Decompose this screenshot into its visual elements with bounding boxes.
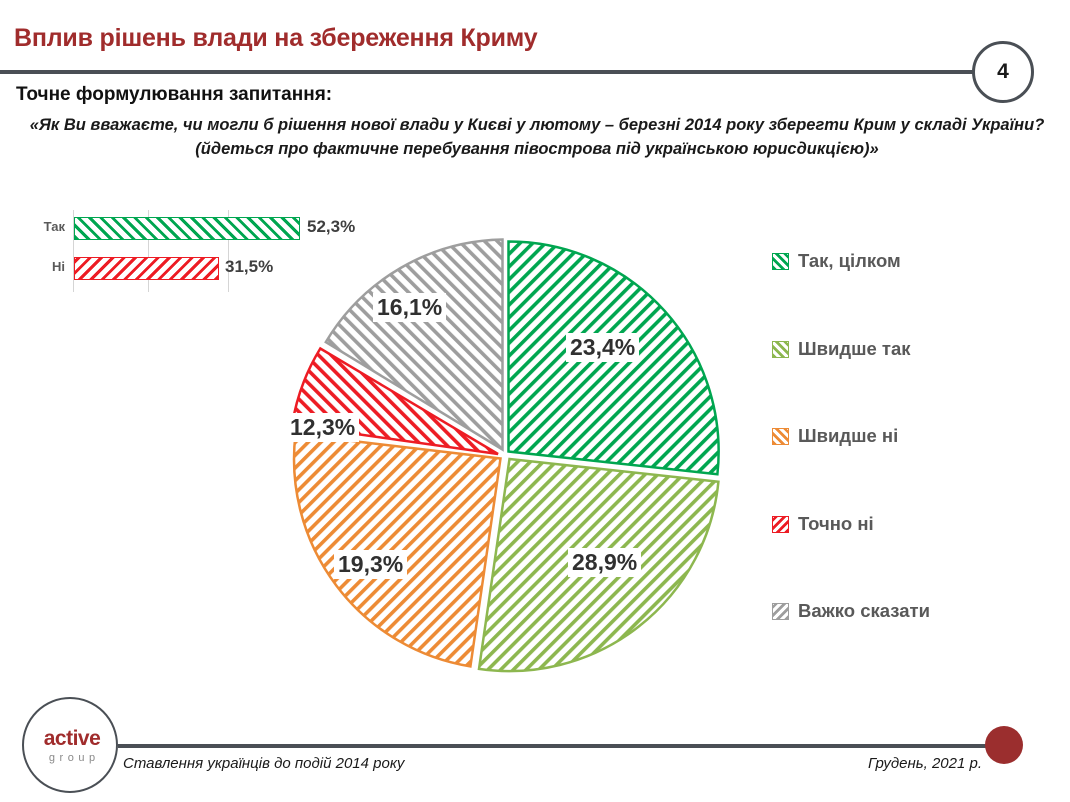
- footer-dot-icon: [985, 726, 1023, 764]
- bar-yes: [74, 217, 300, 240]
- page-number-value: 4: [997, 60, 1009, 84]
- bar-value-no: 31,5%: [225, 257, 273, 277]
- logo-primary-text: active: [24, 727, 120, 751]
- active-group-logo: active group: [22, 697, 118, 793]
- legend-swatch-icon: [772, 603, 789, 620]
- pie-value-vazhko-skazaty: 16,1%: [373, 293, 446, 322]
- legend-swatch-icon: [772, 253, 789, 270]
- pie-value-tochno-ni: 12,3%: [286, 413, 359, 442]
- legend-swatch-icon: [772, 516, 789, 533]
- pie-value-shvydshe-tak: 28,9%: [568, 548, 641, 577]
- legend-swatch-icon: [772, 341, 789, 358]
- logo-secondary-text: group: [24, 752, 120, 764]
- legend-item-shvydshe-tak[interactable]: Швидше так: [772, 338, 911, 360]
- pie-chart-svg: [278, 228, 730, 680]
- pie-value-shvydshe-ni: 19,3%: [334, 550, 407, 579]
- legend-label: Так, цілком: [798, 250, 901, 272]
- legend-item-tochno-ni[interactable]: Точно ні: [772, 513, 874, 535]
- legend-item-shvydshe-ni[interactable]: Швидше ні: [772, 425, 898, 447]
- legend-swatch-icon: [772, 428, 789, 445]
- bar-category-label: Так: [20, 219, 65, 234]
- question-text: «Як Ви вважаєте, чи могли б рішення ново…: [26, 114, 1048, 162]
- header-divider: [0, 70, 978, 74]
- question-label: Точне формулювання запитання:: [16, 84, 332, 106]
- bar-category-label: Ні: [20, 259, 65, 274]
- legend-label: Швидше ні: [798, 425, 898, 447]
- legend-label: Швидше так: [798, 338, 911, 360]
- page-title: Вплив рішень влади на збереження Криму: [14, 24, 537, 53]
- pie-chart: 23,4% 28,9% 19,3% 12,3% 16,1%: [278, 228, 730, 680]
- footer-date: Грудень, 2021 р.: [868, 755, 982, 772]
- footer-subtitle: Ставлення українців до подій 2014 року: [123, 755, 404, 772]
- legend-label: Точно ні: [798, 513, 874, 535]
- page-number-badge: 4: [972, 41, 1034, 103]
- pie-value-tak-cilkom: 23,4%: [566, 333, 639, 362]
- legend-item-tak-cilkom[interactable]: Так, цілком: [772, 250, 901, 272]
- footer-divider: [118, 744, 1003, 748]
- legend-item-vazhko-skazaty[interactable]: Важко сказати: [772, 600, 930, 622]
- legend-label: Важко сказати: [798, 600, 930, 622]
- bar-no: [74, 257, 219, 280]
